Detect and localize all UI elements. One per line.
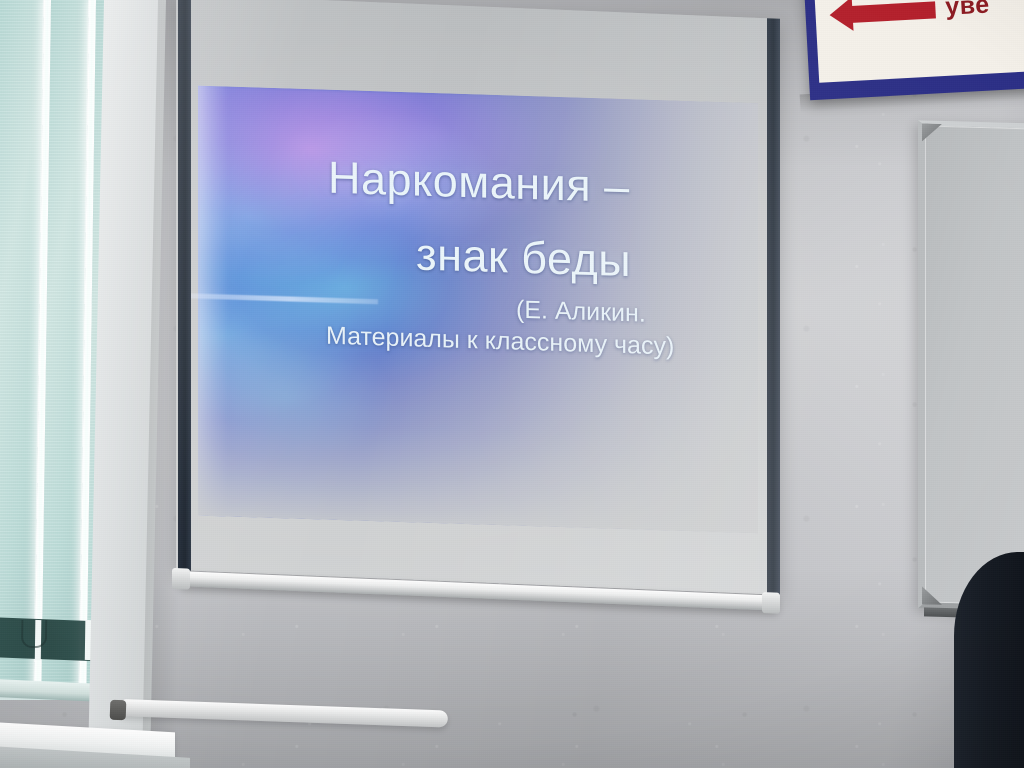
- wall-pipe-bracket: [110, 700, 127, 721]
- whiteboard[interactable]: [918, 120, 1024, 612]
- blind-cord[interactable]: [21, 620, 47, 648]
- screen-left-border: [178, 0, 191, 571]
- wall-poster[interactable]: уве: [800, 0, 1024, 100]
- slide-subtitle-line-1: (Е. Аликин.: [516, 296, 646, 329]
- screen-right-border: [767, 18, 780, 595]
- screen-bar-end-cap-right: [762, 592, 780, 614]
- projection-screen[interactable]: Наркомания – знак беды (Е. Аликин. Матер…: [176, 0, 780, 595]
- left-arrow-icon: [851, 1, 936, 23]
- slide-title-line-1: Наркомания –: [328, 152, 630, 213]
- whiteboard-frame: [918, 120, 1024, 612]
- slide-text-block: Наркомания – знак беды (Е. Аликин. Матер…: [198, 86, 758, 534]
- slide-title-line-2: знак беды: [416, 228, 631, 287]
- slide-divider-rule: [182, 293, 378, 304]
- poster-text: уве: [945, 0, 991, 22]
- screen-bar-end-cap-left: [172, 568, 190, 590]
- classroom-photo-scene: Наркомания – знак беды (Е. Аликин. Матер…: [0, 0, 1024, 768]
- poster-paper: уве: [811, 0, 1024, 83]
